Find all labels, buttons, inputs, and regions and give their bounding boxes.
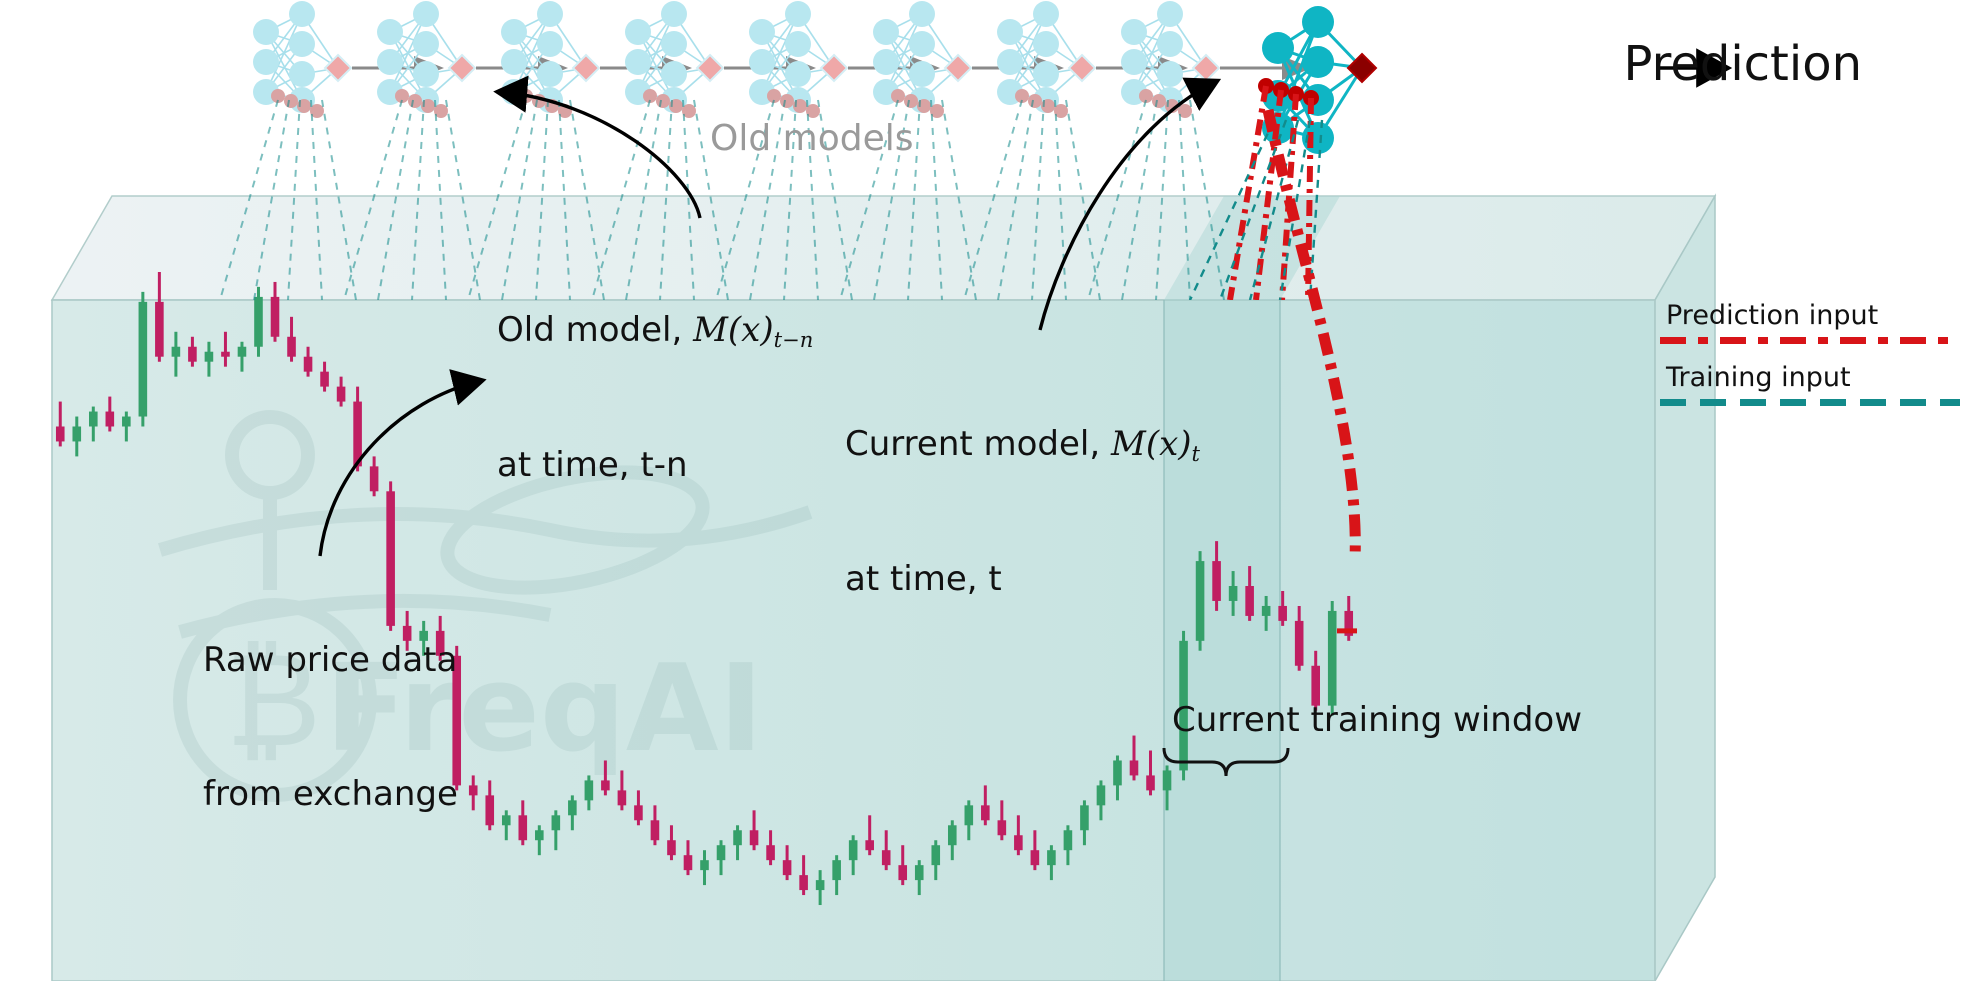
training-window-label: Current training window [1172, 700, 1582, 740]
current-model-time: at time, t [845, 557, 1200, 602]
current-model-text: Current model, [845, 424, 1111, 464]
legend-label-training-input: Training input [1660, 362, 1960, 393]
legend-item-training-input: Training input [1660, 362, 1960, 406]
arrow-old-model [500, 92, 700, 218]
prediction-path [1268, 110, 1355, 560]
legend-swatch-prediction-input [1660, 337, 1960, 344]
current-model-annotation: Current model, M(x)t at time, t [845, 332, 1200, 692]
old-model-subscript: t−n [774, 327, 814, 352]
legend: Prediction input Training input [1660, 300, 1960, 424]
old-model-formula: M(x) [693, 310, 774, 350]
legend-label-prediction-input: Prediction input [1660, 300, 1960, 331]
training-window-brace [1164, 748, 1288, 776]
arrow-current-model [1040, 82, 1215, 330]
raw-price-annotation: Raw price data from exchange [203, 548, 458, 907]
old-model-text: Old model, [497, 310, 693, 350]
raw-price-line2: from exchange [203, 772, 458, 817]
legend-swatch-training-input [1660, 399, 1960, 406]
current-model-formula: M(x) [1111, 424, 1192, 464]
legend-item-prediction-input: Prediction input [1660, 300, 1960, 344]
old-model-annotation: Old model, M(x)t−n at time, t-n [497, 218, 813, 578]
prediction-label: Prediction [1624, 36, 1862, 92]
raw-price-line1: Raw price data [203, 638, 458, 683]
old-models-label: Old models [710, 118, 913, 159]
diagram-canvas: FreqAI ₿ Prediction Old models Old model… [0, 0, 1966, 981]
arrow-raw-price [320, 381, 480, 556]
current-model-subscript: t [1192, 441, 1200, 466]
old-model-time: at time, t-n [497, 443, 813, 488]
